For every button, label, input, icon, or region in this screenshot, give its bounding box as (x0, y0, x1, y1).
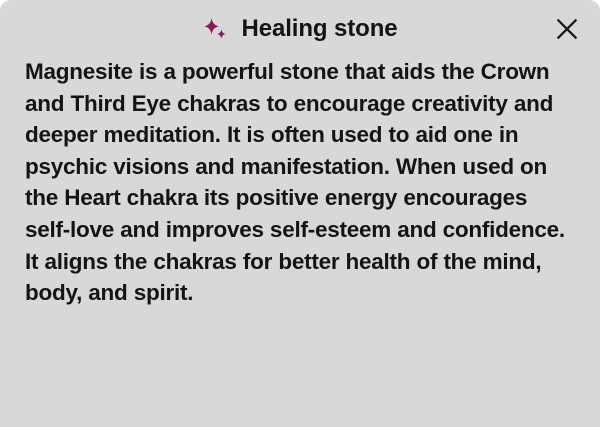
close-button[interactable] (547, 9, 587, 49)
panel-header: Healing stone (0, 0, 600, 58)
panel-body: Magnesite is a powerful stone that aids … (25, 56, 577, 309)
header-title-group: Healing stone (0, 0, 600, 58)
close-icon (556, 18, 578, 40)
healing-stone-description: Magnesite is a powerful stone that aids … (25, 56, 577, 309)
page-title: Healing stone (241, 17, 397, 41)
sparkle-icon (202, 16, 230, 44)
healing-stone-panel: Healing stone Magnesite is a powerful st… (0, 0, 600, 427)
